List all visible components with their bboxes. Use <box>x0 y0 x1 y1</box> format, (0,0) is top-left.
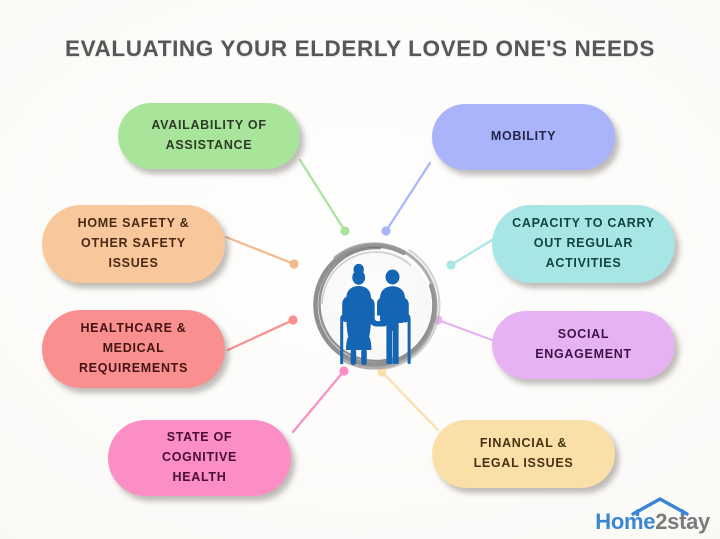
node-label-line: MEDICAL <box>79 339 188 359</box>
node-label-line: ENGAGEMENT <box>535 345 632 365</box>
node-label-line: REQUIREMENTS <box>79 359 188 379</box>
connector-capacity <box>451 240 492 265</box>
node-home-safety-other-safety-issues[interactable]: HOME SAFETY &OTHER SAFETYISSUES <box>42 205 225 283</box>
connector-healthcare-endpoint-dot <box>288 315 297 324</box>
infographic-canvas: EVALUATING YOUR ELDERLY LOVED ONE'S NEED… <box>0 0 720 539</box>
node-capacity-to-carry-out-regular-activities[interactable]: CAPACITY TO CARRYOUT REGULARACTIVITIES <box>492 205 675 283</box>
node-label-line: SOCIAL <box>535 325 632 345</box>
logo-text-secondary: 2stay <box>655 509 710 534</box>
node-social-engagement[interactable]: SOCIALENGAGEMENT <box>492 311 675 379</box>
node-state-of-cognitive-health[interactable]: STATE OFCOGNITIVEHEALTH <box>108 420 291 496</box>
node-label-line: COGNITIVE <box>162 448 237 468</box>
node-label: HEALTHCARE &MEDICALREQUIREMENTS <box>79 319 188 378</box>
home2stay-logo[interactable]: Home2stay <box>595 496 710 533</box>
logo-text-primary: Home <box>595 509 655 534</box>
node-label: SOCIALENGAGEMENT <box>535 325 632 365</box>
node-label: AVAILABILITY OFASSISTANCE <box>151 116 266 156</box>
node-availability-of-assistance[interactable]: AVAILABILITY OFASSISTANCE <box>118 103 300 169</box>
connector-home-safety-endpoint-dot <box>289 259 298 268</box>
node-label-line: ASSISTANCE <box>151 136 266 156</box>
node-label-line: AVAILABILITY OF <box>151 116 266 136</box>
node-label-line: CAPACITY TO CARRY <box>512 214 655 234</box>
node-healthcare-medical-requirements[interactable]: HEALTHCARE &MEDICALREQUIREMENTS <box>42 310 225 388</box>
node-label-line: HOME SAFETY & <box>78 214 190 234</box>
node-label-line: STATE OF <box>162 428 237 448</box>
connector-healthcare <box>228 320 293 350</box>
node-financial-legal-issues[interactable]: FINANCIAL &LEGAL ISSUES <box>432 420 615 488</box>
node-label: STATE OFCOGNITIVEHEALTH <box>162 428 237 487</box>
logo-wordmark: Home2stay <box>595 511 710 533</box>
page-title: EVALUATING YOUR ELDERLY LOVED ONE'S NEED… <box>0 36 720 62</box>
node-label-line: OTHER SAFETY <box>78 234 190 254</box>
node-label-line: FINANCIAL & <box>474 434 574 454</box>
connector-financial-legal <box>382 372 438 430</box>
connector-availability-of-assistance <box>300 160 345 231</box>
node-label-line: MOBILITY <box>491 127 556 147</box>
node-label: FINANCIAL &LEGAL ISSUES <box>474 434 574 474</box>
connector-home-safety <box>226 237 294 264</box>
node-label-line: ACTIVITIES <box>512 254 655 274</box>
node-label-line: HEALTH <box>162 468 237 488</box>
center-emblem <box>300 230 450 380</box>
node-label: CAPACITY TO CARRYOUT REGULARACTIVITIES <box>512 214 655 273</box>
node-label: HOME SAFETY &OTHER SAFETYISSUES <box>78 214 190 273</box>
node-mobility[interactable]: MOBILITY <box>432 104 615 170</box>
node-label-line: LEGAL ISSUES <box>474 454 574 474</box>
node-label-line: HEALTHCARE & <box>79 319 188 339</box>
node-label-line: ISSUES <box>78 254 190 274</box>
node-label-line: OUT REGULAR <box>512 234 655 254</box>
connector-cognitive-health <box>293 371 344 432</box>
node-label: MOBILITY <box>491 127 556 147</box>
connector-mobility <box>386 163 430 231</box>
